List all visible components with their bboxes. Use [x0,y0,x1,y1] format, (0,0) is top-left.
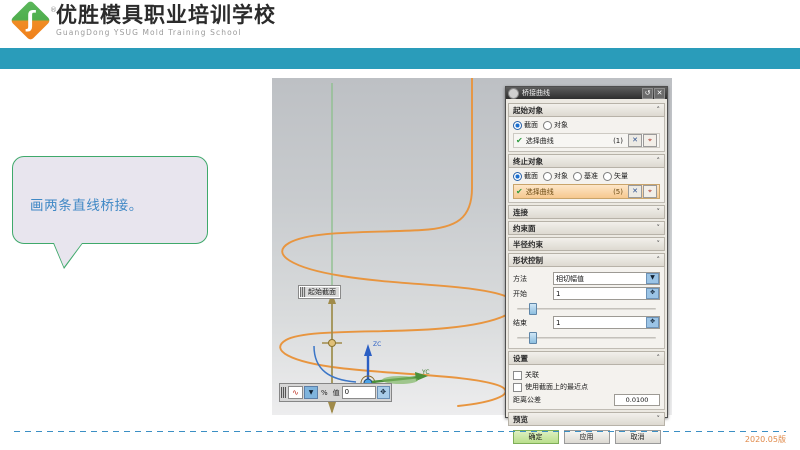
radio-start-object[interactable]: 对象 [543,120,568,130]
radio-start-section[interactable]: 截面 [513,120,538,130]
onscreen-value-widget[interactable]: ∿ ▼ % 值 0 ✥ [279,383,392,402]
start-input[interactable]: 1 ✥ [553,287,660,300]
radio-dot-icon [513,121,522,130]
brand-text-block: 优胜模具职业培训学校 GuangDong YSUG Mold Training … [56,5,276,37]
checkbox-nearest-point-label: 使用截面上的最近点 [525,382,588,392]
checkbox-associative[interactable]: 关联 [513,370,660,380]
radio-end-datum-label: 基准 [584,171,598,181]
tangent-arc [314,346,356,382]
logo-mark-icon: ʃ [14,4,48,38]
radio-end-section-label: 截面 [524,171,538,181]
radio-end-object[interactable]: 对象 [543,171,568,181]
section-header-settings-label: 设置 [513,353,528,364]
value-widget-spinner-icon[interactable]: ✥ [377,386,390,399]
method-select[interactable]: 相切幅值 ▼ [553,272,660,285]
label-grip-icon [300,287,306,297]
bridge-curve-dialog[interactable]: 桥接曲线 ↺ ✕ 起始对象 ˄ 截面 对象 [505,86,668,418]
registered-mark-icon: ® [50,6,57,14]
dialog-button-bar: 确定 应用 取消 [508,430,665,446]
section-header-radius-constraint-label: 半径约束 [513,239,543,250]
footer-version: 2020.05版 [745,434,786,445]
section-header-preview-label: 预览 [513,414,528,425]
section-header-shape-control-label: 形状控制 [513,255,543,266]
curve-icon[interactable]: ∿ [288,386,303,399]
panel-settings: 关联 使用截面上的最近点 距离公差 0.0100 [508,365,665,410]
method-select-value: 相切幅值 [556,274,584,284]
panel-shape-control: 方法 相切幅值 ▼ 开始 1 ✥ [508,267,665,349]
cancel-button[interactable]: 取消 [615,430,661,444]
checkbox-associative-label: 关联 [525,370,539,380]
pick-curve-icon[interactable]: ⌖ [643,134,657,147]
section-header-shape-control[interactable]: 形状控制 ˄ [508,253,665,267]
radio-end-vector-label: 矢量 [614,171,628,181]
select-curve-row-end[interactable]: ✔ 选择曲线 (5) ✕ ⌖ [513,184,660,199]
radio-dot-icon [543,172,552,181]
select-curve-end-count: (5) [613,188,623,196]
start-label: 开始 [513,289,553,299]
start-spinner-icon[interactable]: ✥ [646,288,659,299]
end-slider-knob[interactable] [529,332,537,344]
axis-zc-arrow-icon [364,344,372,356]
onscreen-section-label-text: 起始截面 [308,287,340,297]
tolerance-input[interactable]: 0.0100 [614,394,660,406]
dialog-title-text: 桥接曲线 [522,88,641,98]
start-row: 开始 1 ✥ [513,287,660,300]
radio-dot-icon [603,172,612,181]
section-header-end-object[interactable]: 终止对象 ˄ [508,154,665,168]
section-header-radius-constraint[interactable]: 半径约束 ˅ [508,237,665,251]
value-widget-input[interactable]: 0 [342,386,376,399]
section-header-constraint-face[interactable]: 约束面 ˅ [508,221,665,235]
apply-button[interactable]: 应用 [564,430,610,444]
tolerance-row: 距离公差 0.0100 [513,394,660,406]
end-row: 结束 1 ✥ [513,316,660,329]
start-slider-track [517,308,656,310]
close-icon[interactable]: ✕ [654,88,665,99]
radio-dot-icon [573,172,582,181]
footer-divider [14,431,786,432]
select-curve-row-start[interactable]: ✔ 选择曲线 (1) ✕ ⌖ [513,133,660,148]
radio-end-datum[interactable]: 基准 [573,171,598,181]
radio-dot-icon [513,172,522,181]
dialog-app-icon [508,88,519,99]
chevron-up-icon[interactable]: ˄ [657,354,661,362]
tolerance-label: 距离公差 [513,395,614,405]
end-label: 结束 [513,318,553,328]
check-icon: ✔ [516,187,523,196]
value-widget-grip-icon [281,387,286,398]
callout-tail [54,243,82,267]
brand-name-cn: 优胜模具职业培训学校 [56,5,276,26]
method-label: 方法 [513,274,553,284]
pick-curve-icon[interactable]: ⌖ [643,185,657,198]
datum-handle[interactable] [329,340,336,347]
reset-selection-icon[interactable]: ✕ [628,185,642,198]
end-slider[interactable] [513,331,660,342]
radio-dot-icon [543,121,552,130]
start-slider-knob[interactable] [529,303,537,315]
value-widget-unit: % [321,389,328,397]
section-header-connect-label: 连接 [513,207,528,218]
section-header-start-object-label: 起始对象 [513,105,543,116]
radio-group-end-object[interactable]: 截面 对象 基准 矢量 [513,171,660,181]
end-slider-track [517,337,656,339]
chevron-up-icon[interactable]: ˄ [657,106,661,114]
section-header-preview[interactable]: 预览 ˅ [508,412,665,426]
header-teal-band [0,48,800,69]
panel-end-object: 截面 对象 基准 矢量 ✔ [508,168,665,203]
onscreen-section-label[interactable]: 起始截面 [298,285,341,299]
brand-name-en: GuangDong YSUG Mold Training School [56,29,276,37]
method-row: 方法 相切幅值 ▼ [513,272,660,285]
chevron-down-icon[interactable]: ˅ [657,240,661,248]
callout-bubble: 画两条直线桥接。 [12,156,208,266]
radio-start-object-label: 对象 [554,120,568,130]
radio-end-object-label: 对象 [554,171,568,181]
section-header-constraint-face-label: 约束面 [513,223,536,234]
end-spinner-icon[interactable]: ✥ [646,317,659,328]
ok-button[interactable]: 确定 [513,430,559,444]
school-logo: ʃ 优胜模具职业培训学校 GuangDong YSUG Mold Trainin… [14,4,276,38]
value-widget-label: 值 [333,388,340,398]
select-curve-start-label: 选择曲线 [526,136,613,146]
radio-end-section[interactable]: 截面 [513,171,538,181]
start-input-value: 1 [556,290,560,298]
start-slider[interactable] [513,302,660,313]
section-header-connect[interactable]: 连接 ˅ [508,205,665,219]
chevron-up-icon[interactable]: ˄ [657,256,661,264]
reset-selection-icon[interactable]: ✕ [628,134,642,147]
datum-arrow-down-icon [328,402,336,414]
section-header-start-object[interactable]: 起始对象 ˄ [508,103,665,117]
end-input-value: 1 [556,319,560,327]
select-curve-start-count: (1) [613,137,623,145]
callout-text: 画两条直线桥接。 [30,194,143,214]
chevron-up-icon[interactable]: ˄ [657,157,661,165]
section-header-settings[interactable]: 设置 ˄ [508,351,665,365]
checkbox-icon[interactable] [513,383,522,392]
radio-start-section-label: 截面 [524,120,538,130]
checkbox-nearest-point[interactable]: 使用截面上的最近点 [513,382,660,392]
axis-yc-label: YC [421,369,430,376]
chevron-down-icon[interactable]: ˅ [657,415,661,423]
dialog-reset-button[interactable]: ↺ [642,88,653,99]
check-icon: ✔ [516,136,523,145]
panel-start-object: 截面 对象 ✔ 选择曲线 (1) ✕ ⌖ [508,117,665,152]
radio-end-vector[interactable]: 矢量 [603,171,628,181]
axis-zc-label: ZC [373,341,381,348]
end-input[interactable]: 1 ✥ [553,316,660,329]
checkbox-icon[interactable] [513,371,522,380]
radio-group-start-object[interactable]: 截面 对象 [513,120,660,130]
dialog-title-bar[interactable]: 桥接曲线 ↺ ✕ [506,87,667,99]
logo-swoosh-icon: ʃ [25,9,37,33]
section-header-end-object-label: 终止对象 [513,156,543,167]
chevron-down-icon[interactable]: ˅ [657,224,661,232]
chevron-down-icon[interactable]: ˅ [657,208,661,216]
chevron-down-icon[interactable]: ▼ [304,386,318,399]
dialog-body: 起始对象 ˄ 截面 对象 ✔ 选择曲线 (1) [506,99,667,448]
slide-root: ʃ 优胜模具职业培训学校 GuangDong YSUG Mold Trainin… [0,0,800,450]
select-curve-end-label: 选择曲线 [526,187,613,197]
chevron-down-icon[interactable]: ▼ [646,273,659,284]
